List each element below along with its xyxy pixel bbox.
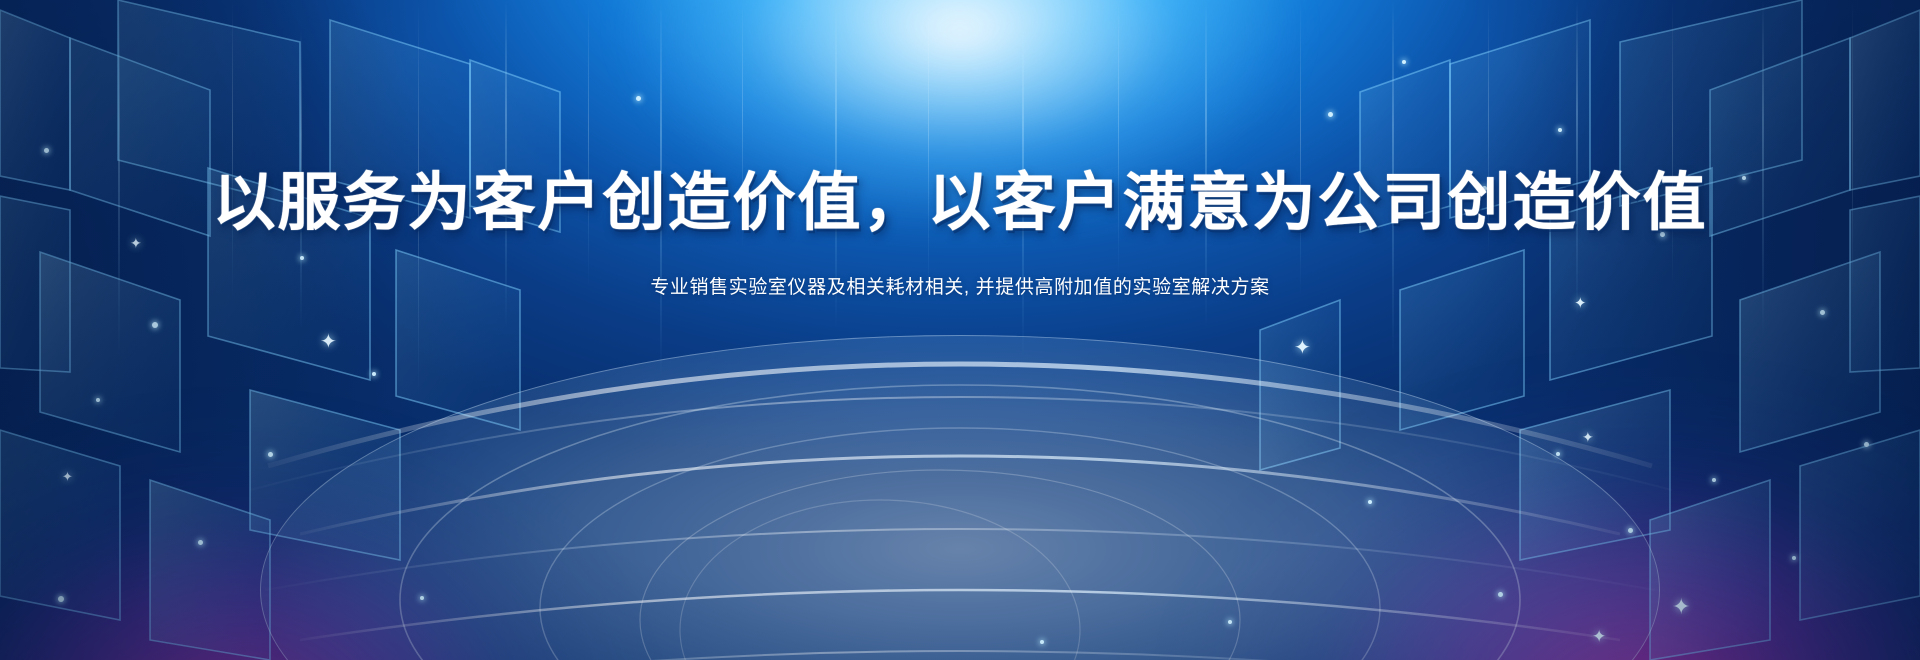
banner-headline: 以服务为客户创造价值，以客户满意为公司创造价值 — [0, 170, 1920, 236]
banner-subheadline: 专业销售实验室仪器及相关耗材相关, 并提供高附加值的实验室解决方案 — [0, 272, 1920, 299]
banner-text-block: 以服务为客户创造价值，以客户满意为公司创造价值 专业销售实验室仪器及相关耗材相关… — [0, 170, 1920, 299]
background-vignette — [0, 0, 1920, 660]
hero-banner: ✦ ✦ ✦ ✦ ✦ ✦ ✦ ✦ 以服务为客户创造价值，以客户满意为公司创造价值 … — [0, 0, 1920, 660]
